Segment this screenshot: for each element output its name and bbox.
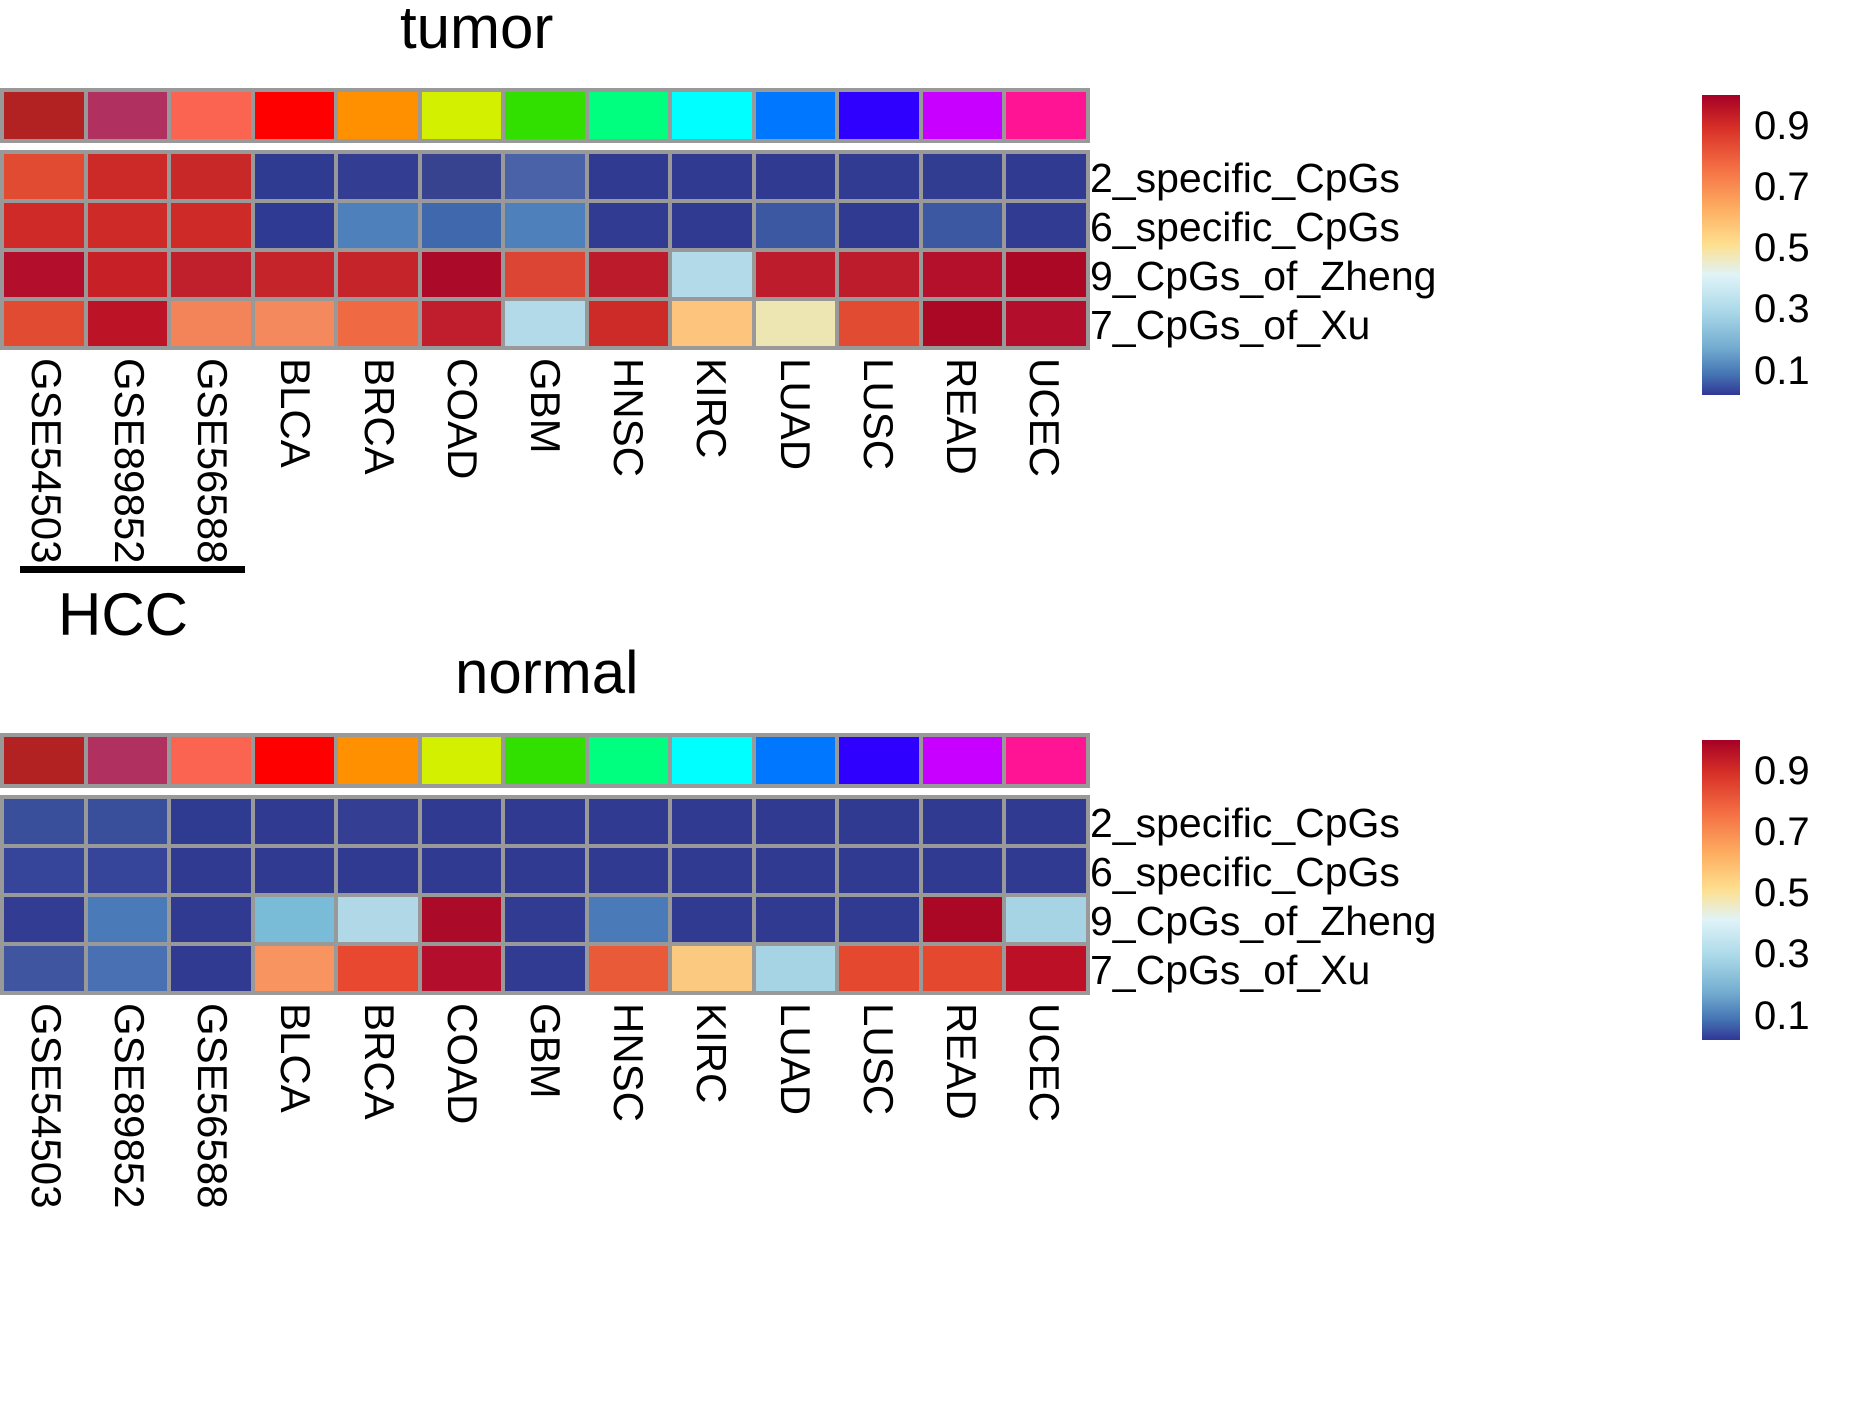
tumor-column-labels: GSE54503GSE89852GSE56588BLCABRCACOADGBMH… — [4, 354, 1086, 569]
heatmap-cell — [4, 848, 84, 893]
heatmap-cell — [171, 252, 251, 297]
colorbar-tick-0-7: 0.7 — [1754, 167, 1810, 207]
heatmap-cell — [171, 799, 251, 844]
heatmap-cell — [839, 946, 919, 991]
row-label-3: 9_CpGs_of_Zheng — [1090, 252, 1436, 301]
heatmap-cell — [756, 301, 836, 346]
heatmap-cell — [505, 946, 585, 991]
heatmap-cell — [505, 252, 585, 297]
heatmap-cell — [338, 946, 418, 991]
heatmap-cell — [4, 154, 84, 199]
heatmap-cell — [589, 252, 669, 297]
tumor-colorbar-ticks: 0.90.70.50.30.1 — [1754, 95, 1849, 395]
column-label-text: BLCA — [274, 358, 316, 468]
column-label-text: KIRC — [690, 1003, 732, 1103]
colorbar-tick-0-3: 0.3 — [1754, 289, 1810, 329]
heatmap-cell — [4, 799, 84, 844]
heatmap-cell — [505, 203, 585, 248]
heatmap-cell — [171, 897, 251, 942]
heatmap-cell — [422, 946, 502, 991]
heatmap-cell — [338, 799, 418, 844]
heatmap-cell — [672, 252, 752, 297]
heatmap-cell — [589, 203, 669, 248]
column-label-luad: LUAD — [753, 999, 836, 1214]
heatmap-cell — [422, 203, 502, 248]
column-label-text: LUAD — [774, 1003, 816, 1115]
heatmap-cell — [338, 252, 418, 297]
column-label-gse56588: GSE56588 — [170, 354, 253, 569]
annotation-cell-gbm — [505, 92, 585, 139]
heatmap-cell — [672, 301, 752, 346]
heatmap-cell — [505, 154, 585, 199]
column-label-blca: BLCA — [254, 354, 337, 569]
column-label-coad: COAD — [420, 999, 503, 1214]
heatmap-cell — [4, 203, 84, 248]
annotation-cell-blca — [255, 92, 335, 139]
heatmap-cell — [171, 301, 251, 346]
normal-panel-title: normal — [455, 643, 638, 703]
column-label-text: READ — [940, 1003, 982, 1120]
heatmap-cell — [756, 154, 836, 199]
column-label-gse56588: GSE56588 — [170, 999, 253, 1214]
tumor-colorbar-wrap: 0.90.70.50.30.1 — [1702, 95, 1740, 395]
column-label-coad: COAD — [420, 354, 503, 569]
heatmap-cell — [338, 848, 418, 893]
column-label-text: LUSC — [857, 1003, 899, 1115]
heatmap-cell — [4, 946, 84, 991]
column-label-kirc: KIRC — [670, 354, 753, 569]
annotation-cell-coad — [422, 92, 502, 139]
heatmap-cell — [589, 848, 669, 893]
column-label-gbm: GBM — [503, 354, 586, 569]
heatmap-cell — [1006, 897, 1086, 942]
tumor-heatmap: 2_specific_CpGs6_specific_CpGs9_CpGs_of_… — [0, 88, 1090, 569]
heatmap-cell — [422, 252, 502, 297]
colorbar-tick-0-5: 0.5 — [1754, 228, 1810, 268]
annotation-cell-gbm — [505, 737, 585, 784]
heatmap-cell — [255, 799, 335, 844]
heatmap-cell — [505, 897, 585, 942]
row-label-2: 6_specific_CpGs — [1090, 203, 1436, 252]
heatmap-cell — [839, 799, 919, 844]
normal-data-grid — [0, 795, 1090, 995]
heatmap-cell — [88, 301, 168, 346]
annotation-cell-blca — [255, 737, 335, 784]
heatmap-cell — [1006, 799, 1086, 844]
heatmap-cell — [923, 946, 1003, 991]
heatmap-cell — [589, 301, 669, 346]
colorbar-tick-0-7: 0.7 — [1754, 812, 1810, 852]
heatmap-cell — [756, 799, 836, 844]
annotation-cell-hnsc — [589, 92, 669, 139]
heatmap-cell — [4, 897, 84, 942]
heatmap-cell — [1006, 154, 1086, 199]
colorbar-tick-0-3: 0.3 — [1754, 934, 1810, 974]
heatmap-cell — [505, 799, 585, 844]
column-label-gse89852: GSE89852 — [87, 354, 170, 569]
tumor-data-grid — [0, 150, 1090, 350]
annotation-cell-read — [923, 737, 1003, 784]
heatmap-cell — [88, 252, 168, 297]
annotation-cell-gse56588 — [171, 737, 251, 784]
column-label-lusc: LUSC — [836, 999, 919, 1214]
column-label-text: GSE56588 — [191, 1003, 233, 1209]
normal-annotation-bar — [0, 733, 1090, 788]
annotation-cell-gse89852 — [88, 92, 168, 139]
tumor-row-labels: 2_specific_CpGs6_specific_CpGs9_CpGs_of_… — [1090, 154, 1436, 350]
column-label-kirc: KIRC — [670, 999, 753, 1214]
column-label-text: GSE54503 — [25, 1003, 67, 1209]
heatmap-cell — [338, 203, 418, 248]
annotation-cell-ucec — [1006, 92, 1086, 139]
column-label-brca: BRCA — [337, 354, 420, 569]
heatmap-cell — [672, 203, 752, 248]
heatmap-cell — [923, 897, 1003, 942]
column-label-text: UCEC — [1023, 1003, 1065, 1122]
column-label-text: HNSC — [607, 1003, 649, 1122]
heatmap-cell — [923, 301, 1003, 346]
heatmap-cell — [756, 897, 836, 942]
heatmap-cell — [422, 799, 502, 844]
column-label-text: COAD — [441, 358, 483, 479]
column-label-text: UCEC — [1023, 358, 1065, 477]
column-label-text: HNSC — [607, 358, 649, 477]
heatmap-cell — [171, 946, 251, 991]
column-label-gse54503: GSE54503 — [4, 354, 87, 569]
heatmap-cell — [589, 897, 669, 942]
heatmap-cell — [923, 154, 1003, 199]
annotation-cell-luad — [756, 92, 836, 139]
annotation-cell-gse54503 — [4, 92, 84, 139]
heatmap-cell — [88, 897, 168, 942]
heatmap-cell — [589, 799, 669, 844]
heatmap-cell — [505, 301, 585, 346]
heatmap-cell — [756, 848, 836, 893]
heatmap-cell — [255, 154, 335, 199]
row-label-4: 7_CpGs_of_Xu — [1090, 301, 1436, 350]
normal-colorbar-ticks: 0.90.70.50.30.1 — [1754, 740, 1849, 1040]
hcc-group-bracket — [20, 566, 245, 573]
heatmap-cell — [88, 203, 168, 248]
column-label-text: COAD — [441, 1003, 483, 1124]
heatmap-cell — [672, 897, 752, 942]
annotation-cell-brca — [338, 737, 418, 784]
colorbar-tick-0-9: 0.9 — [1754, 106, 1810, 146]
heatmap-cell — [923, 252, 1003, 297]
heatmap-cell — [338, 154, 418, 199]
heatmap-cell — [255, 946, 335, 991]
heatmap-cell — [422, 848, 502, 893]
row-label-2: 6_specific_CpGs — [1090, 848, 1436, 897]
heatmap-cell — [1006, 252, 1086, 297]
column-label-lusc: LUSC — [836, 354, 919, 569]
annotation-cell-gse54503 — [4, 737, 84, 784]
row-label-1: 2_specific_CpGs — [1090, 799, 1436, 848]
row-label-3: 9_CpGs_of_Zheng — [1090, 897, 1436, 946]
column-label-text: BRCA — [358, 358, 400, 475]
column-label-read: READ — [920, 999, 1003, 1214]
colorbar-tick-0-1: 0.1 — [1754, 996, 1810, 1036]
column-label-blca: BLCA — [254, 999, 337, 1214]
heatmap-cell — [923, 799, 1003, 844]
normal-heatmap: 2_specific_CpGs6_specific_CpGs9_CpGs_of_… — [0, 733, 1090, 1214]
heatmap-cell — [756, 203, 836, 248]
heatmap-cell — [1006, 203, 1086, 248]
column-label-text: GSE56588 — [191, 358, 233, 564]
heatmap-cell — [1006, 848, 1086, 893]
heatmap-cell — [672, 848, 752, 893]
annotation-cell-lusc — [839, 92, 919, 139]
column-label-text: READ — [940, 358, 982, 475]
column-label-ucec: UCEC — [1003, 999, 1086, 1214]
annotation-cell-lusc — [839, 737, 919, 784]
heatmap-cell — [422, 301, 502, 346]
tumor-panel-title: tumor — [400, 0, 553, 58]
heatmap-cell — [255, 897, 335, 942]
column-label-text: KIRC — [690, 358, 732, 458]
heatmap-cell — [672, 946, 752, 991]
normal-row-labels: 2_specific_CpGs6_specific_CpGs9_CpGs_of_… — [1090, 799, 1436, 995]
heatmap-cell — [255, 301, 335, 346]
heatmap-cell — [255, 203, 335, 248]
heatmap-cell — [756, 946, 836, 991]
row-label-4: 7_CpGs_of_Xu — [1090, 946, 1436, 995]
heatmap-cell — [672, 154, 752, 199]
annotation-cell-gse56588 — [171, 92, 251, 139]
heatmap-cell — [171, 848, 251, 893]
heatmap-cell — [923, 848, 1003, 893]
column-label-ucec: UCEC — [1003, 354, 1086, 569]
tumor-colorbar-gradient — [1702, 95, 1740, 395]
heatmap-cell — [338, 897, 418, 942]
heatmap-cell — [923, 203, 1003, 248]
column-label-gse89852: GSE89852 — [87, 999, 170, 1214]
heatmap-cell — [839, 848, 919, 893]
hcc-group-label: HCC — [58, 585, 188, 645]
column-label-text: GSE89852 — [108, 1003, 150, 1209]
column-label-luad: LUAD — [753, 354, 836, 569]
normal-column-labels: GSE54503GSE89852GSE56588BLCABRCACOADGBMH… — [4, 999, 1086, 1214]
heatmap-cell — [505, 848, 585, 893]
heatmap-cell — [4, 301, 84, 346]
column-label-brca: BRCA — [337, 999, 420, 1214]
tumor-annotation-bar — [0, 88, 1090, 143]
annotation-cell-kirc — [672, 737, 752, 784]
column-label-text: BRCA — [358, 1003, 400, 1120]
heatmap-cell — [171, 154, 251, 199]
colorbar-tick-0-9: 0.9 — [1754, 751, 1810, 791]
heatmap-cell — [88, 154, 168, 199]
heatmap-cell — [839, 301, 919, 346]
column-label-text: LUAD — [774, 358, 816, 470]
heatmap-cell — [171, 203, 251, 248]
heatmap-cell — [88, 946, 168, 991]
column-label-text: LUSC — [857, 358, 899, 470]
annotation-cell-read — [923, 92, 1003, 139]
annotation-cell-kirc — [672, 92, 752, 139]
heatmap-cell — [255, 848, 335, 893]
heatmap-cell — [756, 252, 836, 297]
heatmap-cell — [338, 301, 418, 346]
heatmap-cell — [839, 203, 919, 248]
annotation-cell-gse89852 — [88, 737, 168, 784]
heatmap-cell — [88, 848, 168, 893]
annotation-cell-coad — [422, 737, 502, 784]
annotation-cell-luad — [756, 737, 836, 784]
heatmap-cell — [4, 252, 84, 297]
colorbar-tick-0-5: 0.5 — [1754, 873, 1810, 913]
column-label-read: READ — [920, 354, 1003, 569]
annotation-cell-ucec — [1006, 737, 1086, 784]
annotation-cell-hnsc — [589, 737, 669, 784]
heatmap-cell — [589, 946, 669, 991]
heatmap-cell — [839, 252, 919, 297]
heatmap-cell — [422, 154, 502, 199]
column-label-gbm: GBM — [503, 999, 586, 1214]
row-label-1: 2_specific_CpGs — [1090, 154, 1436, 203]
column-label-text: GBM — [524, 358, 566, 454]
column-label-hnsc: HNSC — [587, 999, 670, 1214]
column-label-text: GSE54503 — [25, 358, 67, 564]
normal-colorbar-gradient — [1702, 740, 1740, 1040]
heatmap-cell — [589, 154, 669, 199]
column-label-text: GBM — [524, 1003, 566, 1099]
column-label-hnsc: HNSC — [587, 354, 670, 569]
normal-colorbar-wrap: 0.90.70.50.30.1 — [1702, 740, 1740, 1040]
annotation-cell-brca — [338, 92, 418, 139]
column-label-text: GSE89852 — [108, 358, 150, 564]
heatmap-cell — [1006, 946, 1086, 991]
heatmap-cell — [672, 799, 752, 844]
heatmap-cell — [88, 799, 168, 844]
heatmap-cell — [422, 897, 502, 942]
heatmap-cell — [839, 897, 919, 942]
colorbar-tick-0-1: 0.1 — [1754, 351, 1810, 391]
heatmap-cell — [255, 252, 335, 297]
heatmap-cell — [839, 154, 919, 199]
heatmap-cell — [1006, 301, 1086, 346]
column-label-gse54503: GSE54503 — [4, 999, 87, 1214]
column-label-text: BLCA — [274, 1003, 316, 1113]
